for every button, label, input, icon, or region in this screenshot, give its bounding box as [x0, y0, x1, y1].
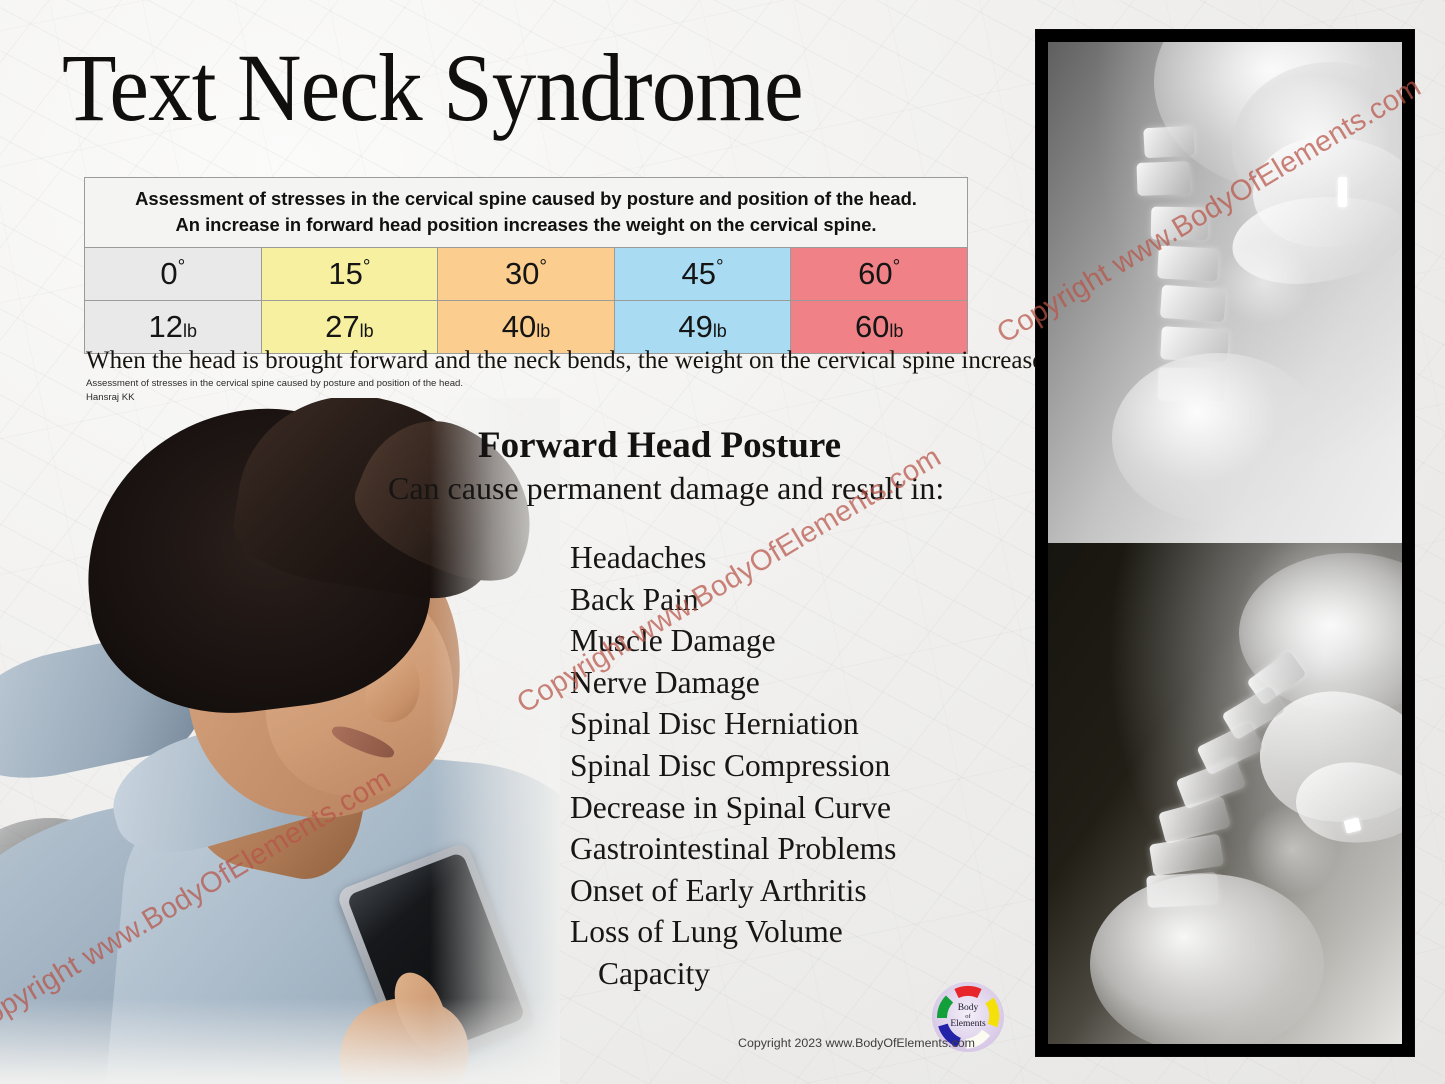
angle-value: 30: [505, 256, 539, 291]
symptom-item: Nerve Damage: [570, 662, 896, 704]
angle-value: 60: [858, 256, 892, 291]
angle-value: 15: [328, 256, 362, 291]
forward-head-posture-subheading: Can cause permanent damage and result in…: [388, 470, 944, 507]
weight-unit: lb: [360, 321, 374, 341]
angle-cell-0: 0°: [85, 248, 262, 301]
table-header-row: Assessment of stresses in the cervical s…: [85, 178, 968, 248]
xray-shoulder-bottom: [1090, 874, 1324, 1044]
xray-dental-filling-top: [1338, 177, 1347, 207]
angle-value: 45: [682, 256, 716, 291]
xray-airway-bottom: [1246, 804, 1338, 894]
lips: [329, 721, 397, 762]
weight-unit: lb: [713, 321, 727, 341]
angle-cell-45: 45°: [614, 248, 791, 301]
eyebrow: [305, 596, 402, 640]
table-weight-row: 12lb27lb40lb49lb60lb: [85, 301, 968, 354]
table-header-line1: Assessment of stresses in the cervical s…: [135, 188, 917, 209]
logo-line3: Elements: [950, 1020, 985, 1030]
weight-unit: lb: [889, 321, 903, 341]
weight-unit: lb: [183, 321, 197, 341]
weight-unit: lb: [536, 321, 550, 341]
page-title: Text Neck Syndrome: [62, 36, 803, 140]
smartphone-screen: [346, 852, 526, 1063]
weight-value: 49: [678, 309, 712, 344]
photo-shadow: [0, 818, 180, 1084]
symptom-item: Capacity: [570, 953, 896, 995]
table-header-line2: An increase in forward head position inc…: [91, 212, 961, 238]
weight-value: 12: [149, 309, 183, 344]
degree-symbol: °: [539, 257, 547, 278]
degree-symbol: °: [893, 257, 901, 278]
degree-symbol: °: [716, 257, 724, 278]
hand: [329, 986, 481, 1084]
citation-line1: Assessment of stresses in the cervical s…: [86, 377, 463, 391]
smartphone-screen-glow: [406, 974, 423, 993]
nose: [359, 647, 429, 729]
photo-fade-bottom: [0, 998, 560, 1084]
watermark-1: Copyright www.BodyOfElements.com: [0, 763, 397, 1043]
weight-value: 40: [502, 309, 536, 344]
smartphone-body: [336, 841, 537, 1074]
symptom-list: HeadachesBack PainMuscle DamageNerve Dam…: [570, 537, 896, 995]
denim-shirt-back: [0, 768, 514, 1084]
degree-symbol: °: [363, 257, 371, 278]
symptom-item: Spinal Disc Compression: [570, 745, 896, 787]
xray-vertebra-flexed-c6: [1149, 833, 1224, 876]
weight-cell-60: 60lb: [791, 301, 968, 354]
cheek: [248, 565, 477, 816]
symptom-item: Spinal Disc Herniation: [570, 703, 896, 745]
citation: Assessment of stresses in the cervical s…: [86, 377, 463, 405]
poster-canvas: Text Neck Syndrome Assessment of stresse…: [0, 0, 1445, 1084]
degree-symbol: °: [178, 257, 186, 278]
table-caption: When the head is brought forward and the…: [86, 347, 1059, 375]
ear: [174, 590, 245, 682]
eye: [311, 624, 385, 660]
weight-cell-12: 12lb: [85, 301, 262, 354]
weight-cell-49: 49lb: [614, 301, 791, 354]
weight-cell-40: 40lb: [438, 301, 615, 354]
xray-vertebra-c1: [1143, 126, 1194, 159]
xray-vertebra-c2: [1136, 161, 1190, 195]
table-angle-row: 0°15°30°45°60°: [85, 248, 968, 301]
shirt-collar-front: [99, 697, 360, 869]
cervical-stress-table: Assessment of stresses in the cervical s…: [84, 177, 968, 354]
symptom-item: Loss of Lung Volume: [570, 911, 896, 953]
weight-cell-27: 27lb: [261, 301, 438, 354]
xray-vertebra-c5: [1160, 285, 1226, 322]
xray-vertebra-c4: [1157, 246, 1219, 282]
xray-airway-top: [1218, 242, 1310, 322]
symptom-item: Onset of Early Arthritis: [570, 870, 896, 912]
neck: [182, 687, 382, 888]
forward-head-posture-heading: Forward Head Posture: [478, 424, 841, 467]
xray-flexed-cervical-spine: [1048, 543, 1402, 1044]
thumb: [384, 965, 459, 1061]
face: [170, 501, 479, 836]
xray-vertebra-c3: [1150, 207, 1207, 241]
xray-shoulder-top: [1112, 353, 1324, 523]
citation-line2: Hansraj KK: [86, 391, 463, 405]
symptom-item: Back Pain: [570, 579, 896, 621]
symptom-item: Gastrointestinal Problems: [570, 828, 896, 870]
angle-cell-30: 30°: [438, 248, 615, 301]
angle-cell-60: 60°: [791, 248, 968, 301]
xray-neutral-cervical-spine: [1048, 42, 1402, 543]
denim-shirt-front: [105, 733, 560, 1084]
angle-cell-15: 15°: [261, 248, 438, 301]
weight-value: 60: [855, 309, 889, 344]
symptom-item: Decrease in Spinal Curve: [570, 787, 896, 829]
table-header-cell: Assessment of stresses in the cervical s…: [85, 178, 968, 248]
shirt-collar: [0, 626, 205, 793]
symptom-item: Muscle Damage: [570, 620, 896, 662]
copyright-line: Copyright 2023 www.BodyOfElements.com: [738, 1036, 975, 1050]
hair-back: [69, 398, 443, 730]
xray-frame: [1036, 30, 1414, 1056]
symptom-item: Headaches: [570, 537, 896, 579]
angle-value: 0: [160, 256, 177, 291]
weight-value: 27: [325, 309, 359, 344]
